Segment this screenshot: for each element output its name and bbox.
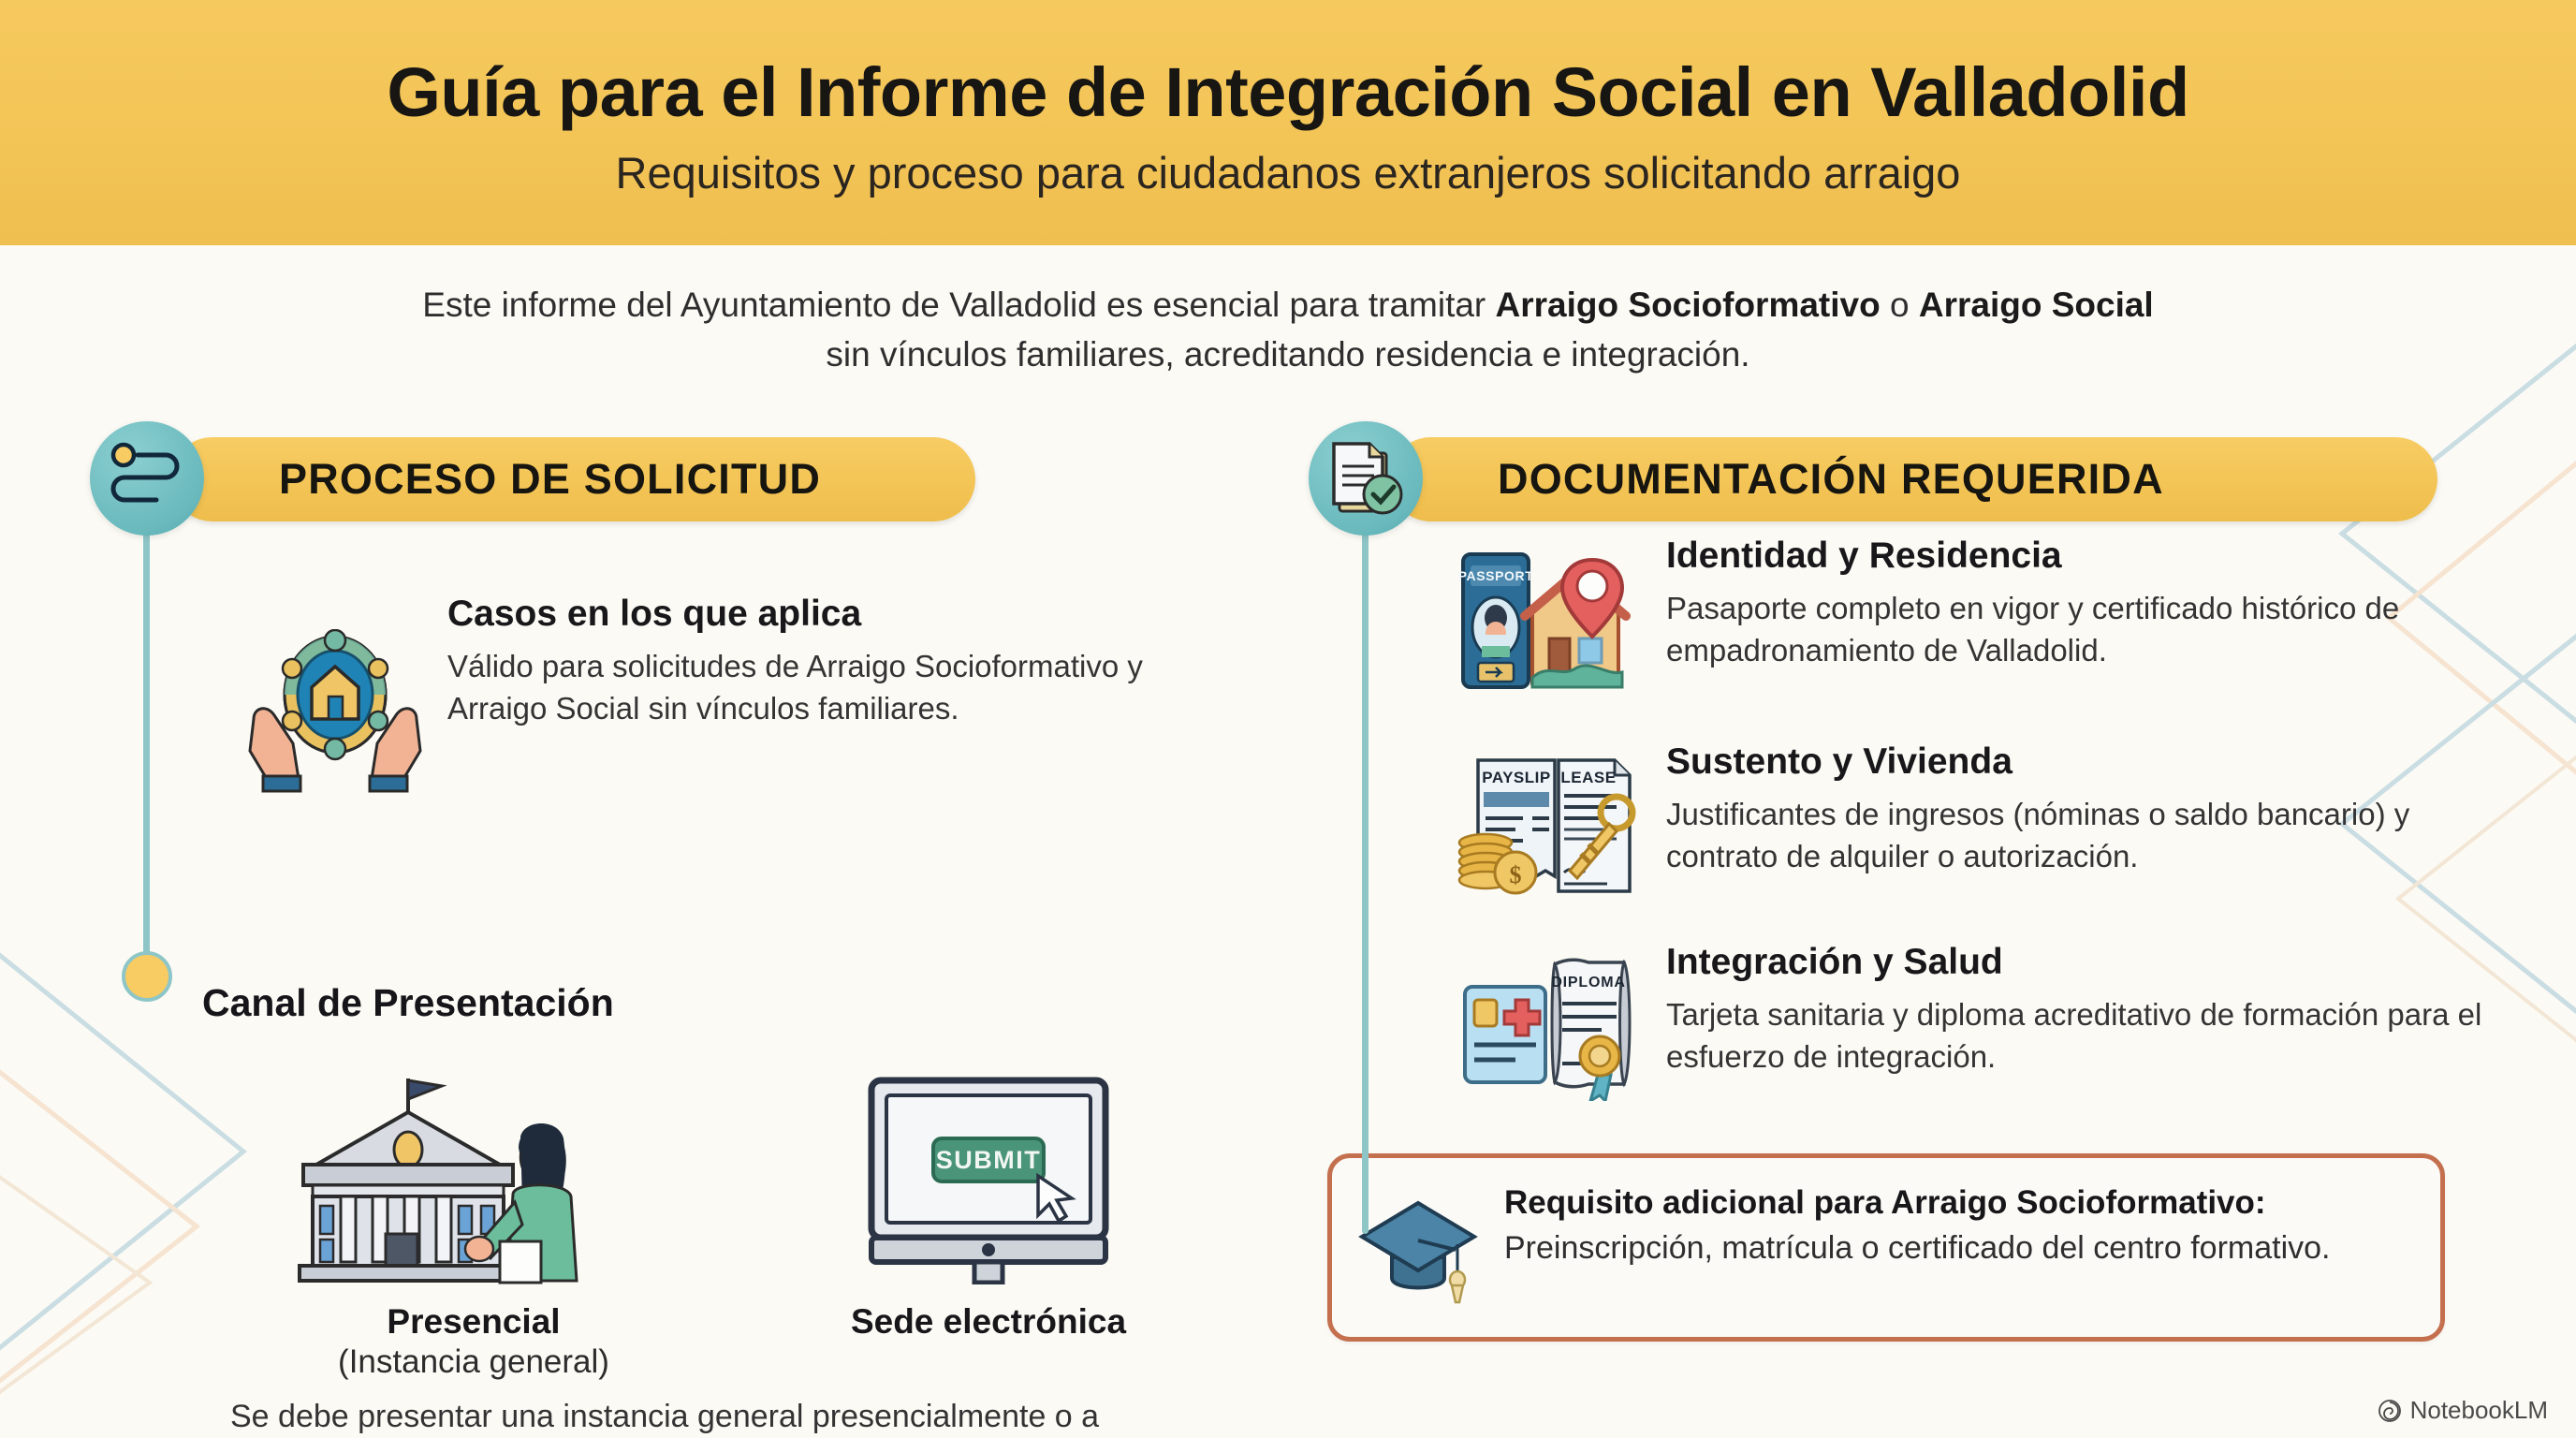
intro-bold-socioformativo: Arraigo Socioformativo [1496, 286, 1881, 324]
process-flow-icon [90, 421, 204, 536]
section-header-proceso: PROCESO DE SOLICITUD [90, 421, 1213, 536]
timeline-connector-right [1362, 522, 1368, 1234]
channel-presencial: Presencial (Instancia general) [258, 1067, 689, 1382]
column-documentacion-requerida: DOCUMENTACIÓN REQUERIDA PASSPORT [1309, 421, 2497, 1342]
channel-label-presencial: Presencial [258, 1301, 689, 1343]
notebooklm-watermark: NotebookLM [2378, 1396, 2548, 1425]
item-body: Pasaporte completo en vigor y certificad… [1666, 588, 2497, 672]
intro-line1-b: o [1881, 286, 1919, 324]
item-heading: Sustento y Vivienda [1666, 741, 2497, 784]
section-pill-proceso: PROCESO DE SOLICITUD [170, 437, 975, 521]
lease-label: LEASE [1560, 769, 1616, 786]
page-title: Guía para el Informe de Integración Soci… [387, 56, 2188, 129]
header-band: Guía para el Informe de Integración Soci… [0, 0, 2576, 245]
intro-bold-social: Arraigo Social [1919, 286, 2154, 324]
section-title-proceso: PROCESO DE SOLICITUD [279, 455, 821, 504]
passport-label: PASSPORT [1458, 568, 1534, 583]
intro-line2: sin vínculos familiares, acreditando res… [826, 335, 1749, 374]
list-item-text: Casos en los que aplica Válido para soli… [447, 594, 1213, 730]
monitor-submit-button-icon: SUBMIT [773, 1067, 1204, 1284]
passport-house-pin-icon: PASSPORT [1455, 545, 1647, 700]
graduation-cap-icon [1358, 1196, 1497, 1309]
canal-note: Se debe presentar una instancia general … [230, 1395, 1166, 1438]
list-item-text: Identidad y Residencia Pasaporte complet… [1666, 536, 2497, 672]
item-heading: Integración y Salud [1666, 942, 2497, 984]
infographic-root: Guía para el Informe de Integración Soci… [0, 0, 2576, 1438]
timeline-dot-canal [122, 951, 172, 1002]
intro-paragraph: Este informe del Ayuntamiento de Vallado… [0, 281, 2576, 379]
list-item-text: Sustento y Vivienda Justificantes de ing… [1666, 741, 2497, 878]
intro-line1-a: Este informe del Ayuntamiento de Vallado… [422, 286, 1495, 324]
section-title-documentacion: DOCUMENTACIÓN REQUERIDA [1498, 455, 2164, 504]
item-body: Válido para solicitudes de Arraigo Socio… [447, 646, 1213, 730]
item-heading: Casos en los que aplica [447, 594, 1213, 636]
callout-text: Requisito adicional para Arraigo Sociofo… [1504, 1182, 2408, 1269]
list-item-integracion-salud: DIPLOMA Integración y Salud Tarjeta sani… [1455, 942, 2497, 1101]
list-item-identidad-residencia: PASSPORT [1455, 536, 2497, 700]
notebooklm-spiral-icon [2378, 1399, 2402, 1423]
channel-sede-electronica: SUBMIT Sede electrónica [773, 1067, 1204, 1382]
column-proceso-de-solicitud: PROCESO DE SOLICITUD [90, 421, 1213, 794]
list-item-text: Integración y Salud Tarjeta sanitaria y … [1666, 942, 2497, 1078]
timeline-connector-left [143, 522, 150, 961]
watermark-label: NotebookLM [2410, 1396, 2548, 1425]
callout-body: Preinscripción, matrícula o certificado … [1504, 1227, 2408, 1269]
submit-button-label: SUBMIT [936, 1146, 1042, 1174]
channels-group: Presencial (Instancia general) SUBMIT [258, 1067, 1204, 1382]
heading-canal-presentacion: Canal de Presentación [202, 981, 614, 1025]
payslip-coins-lease-key-icon: PAYSLIP $ [1455, 751, 1647, 901]
item-heading: Identidad y Residencia [1666, 536, 2497, 578]
health-card-diploma-icon: DIPLOMA [1455, 951, 1647, 1101]
section-header-documentacion: DOCUMENTACIÓN REQUERIDA [1309, 421, 2497, 536]
item-body: Tarjeta sanitaria y diploma acreditativo… [1666, 994, 2497, 1078]
government-building-person-icon [258, 1067, 689, 1284]
section-pill-documentacion: DOCUMENTACIÓN REQUERIDA [1389, 437, 2437, 521]
document-check-icon [1309, 421, 1423, 536]
callout-requisito-adicional: Requisito adicional para Arraigo Sociofo… [1327, 1153, 2445, 1342]
callout-heading: Requisito adicional para Arraigo Sociofo… [1504, 1182, 2408, 1224]
page-subtitle: Requisitos y proceso para ciudadanos ext… [616, 147, 1961, 198]
list-item-casos-aplica: Casos en los que aplica Válido para soli… [243, 594, 1213, 794]
list-item-sustento-vivienda: PAYSLIP $ [1455, 741, 2497, 901]
channel-sublabel-presencial: (Instancia general) [258, 1343, 689, 1382]
channel-label-sede: Sede electrónica [773, 1301, 1204, 1343]
svg-text:$: $ [1510, 861, 1522, 888]
hands-holding-community-home-icon [243, 629, 427, 794]
diploma-label: DIPLOMA [1551, 975, 1625, 990]
payslip-label: PAYSLIP [1482, 769, 1550, 786]
item-body: Justificantes de ingresos (nóminas o sal… [1666, 794, 2497, 878]
